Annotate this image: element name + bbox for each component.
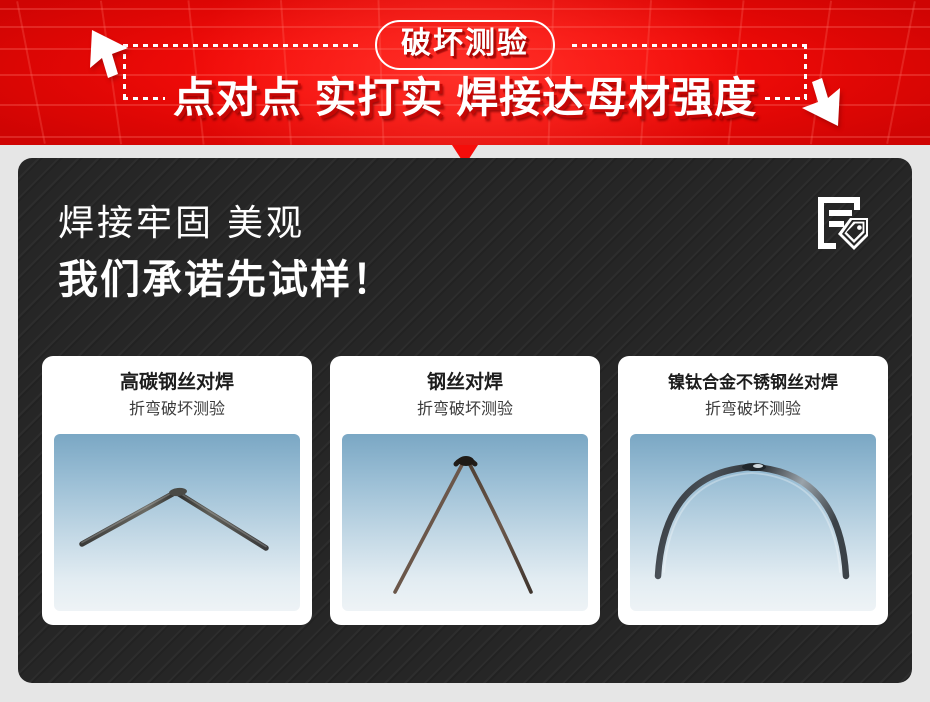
grid-line-h <box>0 8 930 10</box>
page-footer-strip <box>0 683 930 702</box>
panel-heading: 焊接牢固 美观 我们承诺先试样！ <box>58 200 394 306</box>
grid-line-h <box>0 136 930 138</box>
card-title: 高碳钢丝对焊 <box>120 370 234 396</box>
card-title: 钢丝对焊 <box>427 370 503 396</box>
card-subtitle: 折弯破坏测验 <box>705 398 801 422</box>
banner-slogan: 点对点 实打实 焊接达母材强度 <box>173 72 757 124</box>
bent-wire-chevron-photo <box>54 434 300 611</box>
page-root: 破坏测验 点对点 实打实 焊接达母材强度 焊接牢固 美观 我们承诺先试样！ <box>0 0 930 702</box>
promo-banner: 破坏测验 点对点 实打实 焊接达母材强度 <box>0 0 930 145</box>
card-subtitle: 折弯破坏测验 <box>417 398 513 422</box>
panel-title-line-1: 焊接牢固 美观 <box>58 200 394 246</box>
badge-label: 破坏测验 <box>401 26 529 62</box>
content-panel: 焊接牢固 美观 我们承诺先试样！ 高碳钢丝对焊 折弯破坏测验 <box>18 158 912 683</box>
test-card-3[interactable]: 镍钛合金不锈钢丝对焊 折弯破坏测验 <box>618 356 888 625</box>
test-card-2[interactable]: 钢丝对焊 折弯破坏测验 <box>330 356 600 625</box>
dotted-line-bottom-left <box>123 97 165 100</box>
document-tag-icon <box>814 194 870 257</box>
dotted-line-top-right <box>572 44 807 47</box>
card-title: 镍钛合金不锈钢丝对焊 <box>668 370 838 396</box>
grid-line-v <box>886 1 916 144</box>
bent-wire-vee-photo <box>342 434 588 611</box>
badge-destructive-test: 破坏测验 <box>375 20 555 70</box>
bent-wire-arch-photo <box>630 434 876 611</box>
dotted-line-top-left <box>123 44 358 47</box>
card-subtitle: 折弯破坏测验 <box>129 398 225 422</box>
panel-title-line-2: 我们承诺先试样！ <box>58 254 394 306</box>
test-cards-list: 高碳钢丝对焊 折弯破坏测验 <box>42 356 888 625</box>
test-card-1[interactable]: 高碳钢丝对焊 折弯破坏测验 <box>42 356 312 625</box>
grid-line-v <box>16 1 46 144</box>
